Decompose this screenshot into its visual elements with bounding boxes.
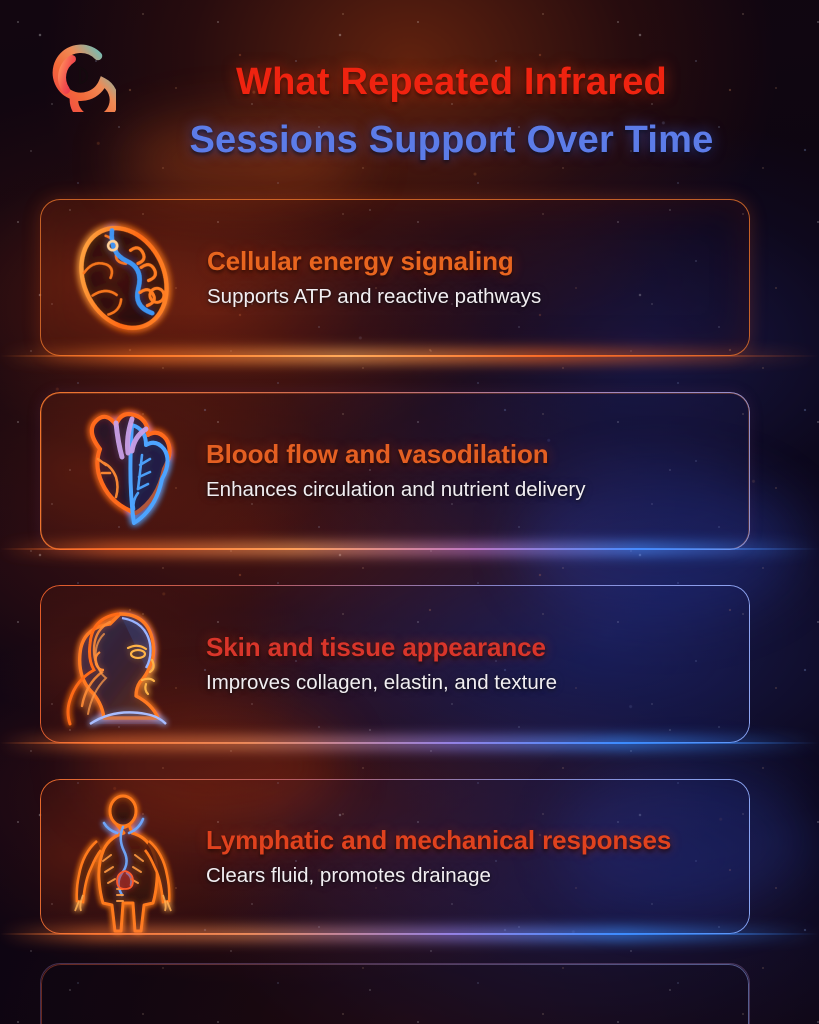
card-subtitle: Supports ATP and reactive pathways: [207, 285, 749, 310]
mitochondrion-icon: [55, 212, 193, 344]
card-subtitle: Clears fluid, promotes drainage: [206, 864, 750, 889]
title-line-1: What Repeated Infrared: [118, 54, 785, 110]
card-title: Lymphatic and mechanical responses: [206, 825, 750, 855]
benefit-card-cellular-energy[interactable]: Cellular energy signaling Supports ATP a…: [40, 199, 750, 356]
card-title: Cellular energy signaling: [207, 246, 749, 276]
card-subtitle: Improves collagen, elastin, and texture: [206, 671, 750, 696]
poster-title: What Repeated Infrared Sessions Support …: [118, 54, 785, 168]
card-frame: [41, 964, 749, 1024]
title-line-2: Sessions Support Over Time: [118, 112, 785, 168]
benefit-card-skin-tissue[interactable]: Skin and tissue appearance Improves coll…: [40, 585, 750, 743]
benefit-card-blood-flow[interactable]: Blood flow and vasodilation Enhances cir…: [40, 392, 750, 550]
card-title: Blood flow and vasodilation: [206, 439, 750, 469]
infographic-poster: What Repeated Infrared Sessions Support …: [0, 0, 819, 1024]
card-subtitle: Enhances circulation and nutrient delive…: [206, 478, 750, 503]
brand-swirl-logo[interactable]: [46, 42, 116, 112]
woman-face-profile-icon: [54, 598, 192, 730]
human-body-lymphatic-icon: [54, 791, 192, 923]
heart-icon: [54, 405, 192, 537]
benefit-card-lymphatic[interactable]: Lymphatic and mechanical responses Clear…: [40, 779, 750, 934]
poster-header: What Repeated Infrared Sessions Support …: [0, 0, 819, 186]
benefit-card-partial[interactable]: [40, 963, 750, 1024]
card-title: Skin and tissue appearance: [206, 632, 750, 662]
